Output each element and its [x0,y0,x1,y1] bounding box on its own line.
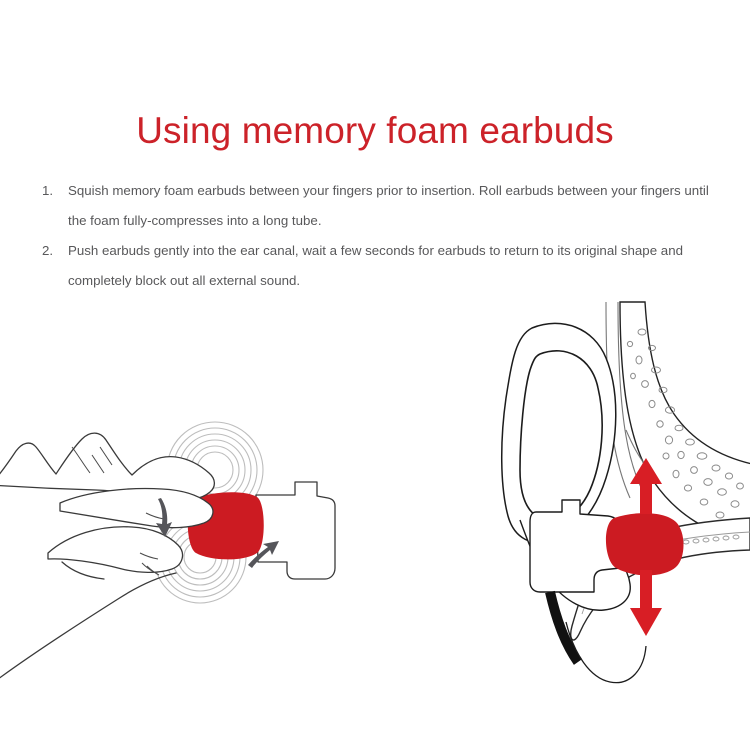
ear-cross-section-diagram [470,310,750,705]
earphone-body-icon [256,482,335,579]
expansion-arrow-down-icon [630,570,662,636]
list-item: 2. Push earbuds gently into the ear cana… [0,236,750,296]
list-item-text: Squish memory foam earbuds between your … [68,176,710,236]
list-item-number: 2. [42,236,64,266]
hand-squishing-earbud-diagram [0,385,370,705]
page-title: Using memory foam earbuds [0,108,750,154]
list-item-number: 1. [42,176,64,206]
temporal-bone-icon [620,302,750,542]
list-item-text: Push earbuds gently into the ear canal, … [68,236,710,296]
instruction-list: 1. Squish memory foam earbuds between yo… [0,176,750,296]
red-foam-eartip-icon [606,513,684,575]
list-item: 1. Squish memory foam earbuds between yo… [0,176,750,236]
hand-icon [0,433,214,685]
page-root: Using memory foam earbuds 1. Squish memo… [0,0,750,750]
